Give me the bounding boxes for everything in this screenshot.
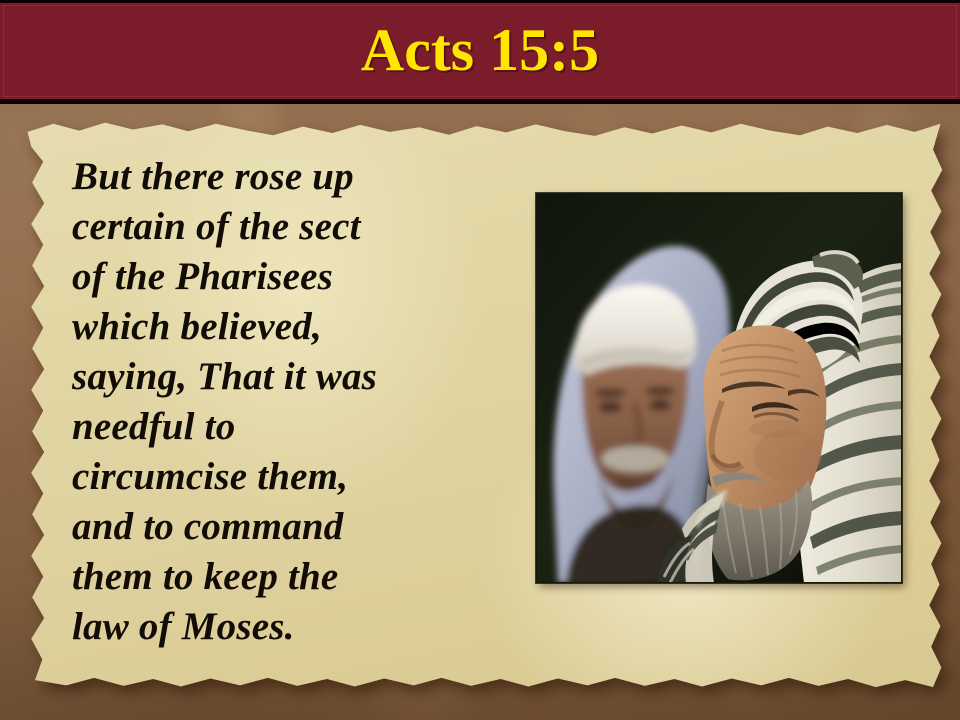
verse-line: needful to xyxy=(72,402,502,452)
verse-line: law of Moses. xyxy=(72,602,502,652)
verse-line: saying, That it was xyxy=(72,352,502,402)
photo-illustration xyxy=(536,193,902,583)
scripture-photo xyxy=(536,193,902,583)
verse-line: and to command xyxy=(72,502,502,552)
verse-line: certain of the sect xyxy=(72,202,502,252)
title-bar: Acts 15:5 xyxy=(0,0,960,104)
verse-line: circumcise them, xyxy=(72,452,502,502)
page-title: Acts 15:5 xyxy=(361,20,599,80)
verse-line: But there rose up xyxy=(72,152,502,202)
verse-text-block: But there rose up certain of the sect of… xyxy=(72,152,502,652)
verse-line: of the Pharisees xyxy=(72,252,502,302)
verse-line: them to keep the xyxy=(72,552,502,602)
scripture-slide: Acts 15:5 But there rose up certain of t… xyxy=(0,0,960,720)
verse-line: which believed, xyxy=(72,302,502,352)
